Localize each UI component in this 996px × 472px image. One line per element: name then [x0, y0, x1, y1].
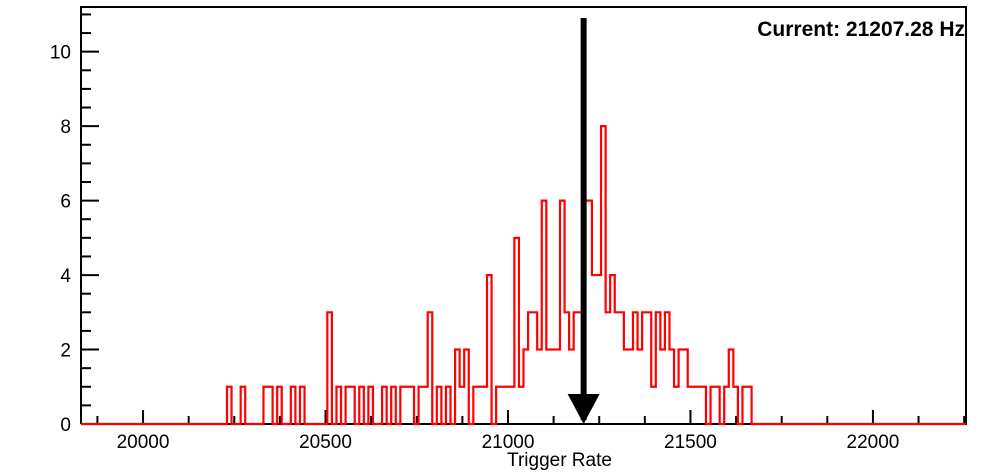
y-tick-label: 4	[60, 266, 71, 287]
histogram-series	[81, 126, 966, 424]
y-axis-tick-labels: 0246810	[50, 43, 72, 436]
x-tick-label: 22000	[847, 432, 900, 453]
arrow-head-icon	[568, 394, 600, 424]
x-tick-label: 20000	[117, 432, 170, 453]
x-tick-label: 21500	[664, 432, 717, 453]
y-tick-label: 8	[60, 117, 71, 138]
current-value-readout: Current: 21207.28 Hz	[757, 18, 965, 42]
histogram-plot: 0246810 2000020500210002150022000 Trigge…	[0, 0, 996, 472]
y-tick-label: 2	[60, 341, 71, 362]
chart-root: 0246810 2000020500210002150022000 Trigge…	[0, 0, 996, 472]
y-tick-label: 6	[60, 192, 71, 213]
current-value-arrow-marker	[568, 18, 600, 424]
y-tick-label: 10	[50, 43, 71, 64]
y-tick-label: 0	[60, 415, 71, 436]
x-tick-label: 20500	[299, 432, 352, 453]
x-axis-title: Trigger Rate	[507, 450, 612, 471]
y-axis-ticks	[81, 14, 99, 424]
